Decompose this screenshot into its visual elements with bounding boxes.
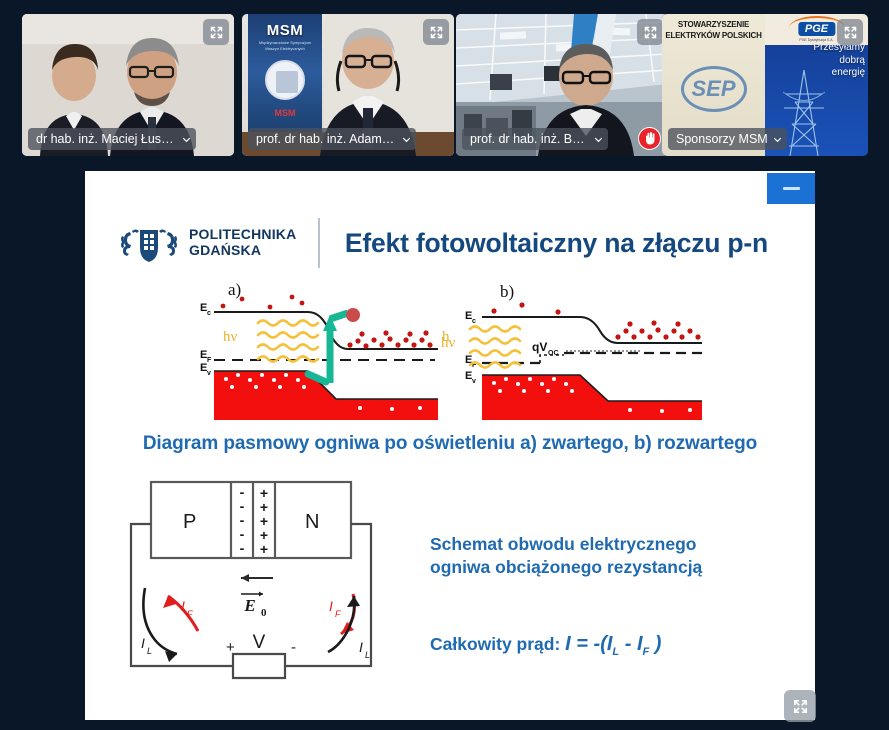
svg-text:+: +: [226, 639, 235, 656]
slide-header: POLITECHNIKA GDAŃSKA Efekt fotowoltaiczn…: [85, 213, 815, 273]
svg-text:P: P: [183, 511, 196, 533]
video-tile-1[interactable]: dr hab. inż. Maciej Łuszc…: [22, 14, 234, 156]
band-diagram-a: a) E c E F E v hν h: [180, 275, 455, 420]
svg-text:N: N: [305, 511, 319, 533]
chevron-down-icon[interactable]: [773, 135, 782, 144]
svg-text:c: c: [472, 318, 476, 325]
svg-text:+: +: [260, 541, 268, 557]
svg-text:V: V: [253, 632, 266, 653]
video-tile-4[interactable]: STOWARZYSZENIE ELEKTRYKÓW POLSKICH SEP P…: [662, 14, 868, 156]
svg-text:c: c: [207, 310, 211, 317]
svg-text:I: I: [329, 598, 333, 614]
logo-wordmark: POLITECHNIKA GDAŃSKA: [189, 227, 296, 258]
participant-name: dr hab. inż. Maciej Łuszc…: [36, 132, 177, 146]
expand-icon[interactable]: [203, 19, 229, 45]
minimize-icon: [783, 187, 800, 190]
sep-logo-icon: SEP: [681, 66, 747, 112]
formula-prefix: Całkowity prąd:: [430, 634, 565, 654]
fullscreen-icon: [792, 698, 809, 715]
video-tile-3[interactable]: prof. dr hab. inż. Boh…: [456, 14, 668, 156]
svg-text:-: -: [291, 639, 296, 656]
svg-text:a): a): [228, 280, 241, 299]
circuit-description-line1: Schemat obwodu elektrycznego: [430, 533, 800, 556]
band-diagrams: a) E c E F E v hν h: [85, 275, 815, 420]
hand-glyph: [644, 132, 656, 145]
logo-line1: POLITECHNIKA: [189, 227, 296, 243]
svg-text:L: L: [147, 646, 152, 656]
header-divider: [318, 218, 320, 268]
participant-name-pill[interactable]: prof. dr hab. inż. Adam K…: [248, 128, 416, 150]
raise-hand-icon[interactable]: [638, 127, 661, 150]
slide-title: Efekt fotowoltaiczny na złączu p-n: [345, 228, 768, 259]
formula-minus: -: [619, 633, 637, 655]
svg-text:hν: hν: [441, 335, 456, 351]
circuit-description-line2: ogniwa obciążonego rezystancją: [430, 556, 800, 579]
svg-text:I: I: [181, 598, 185, 614]
pn-junction-circuit-diagram: P N --- -- +++ ++ E 0 I: [113, 476, 423, 691]
svg-text:0: 0: [261, 607, 267, 619]
pge-slogan: Przesyłamy dobrą energię: [811, 42, 865, 80]
video-tile-2[interactable]: MSM Międzynarodowe Sympozjum Maszyn Elek…: [242, 14, 454, 156]
svg-text:L: L: [365, 650, 370, 660]
participant-name: prof. dr hab. inż. Boh…: [470, 132, 589, 146]
politechnika-gdanska-logo: POLITECHNIKA GDAŃSKA: [118, 222, 296, 264]
sep-logo-text: SEP: [684, 69, 744, 109]
expand-icon[interactable]: [423, 19, 449, 45]
svg-text:OC: OC: [548, 350, 559, 357]
svg-text:hν: hν: [223, 329, 238, 345]
participant-name: Sponsorzy MSM: [676, 132, 768, 146]
circuit-description: Schemat obwodu elektrycznego ogniwa obci…: [430, 533, 800, 579]
svg-text:F: F: [207, 357, 212, 364]
svg-text:I: I: [359, 639, 363, 655]
minimize-button[interactable]: [767, 173, 815, 204]
sep-title-line2: ELEKTRYKÓW POLSKICH: [662, 31, 765, 42]
formula-eq: = -(: [571, 633, 607, 655]
participant-name-pill[interactable]: dr hab. inż. Maciej Łuszc…: [28, 128, 196, 150]
video-filmstrip: dr hab. inż. Maciej Łuszc… MSM Międzynar…: [0, 0, 889, 170]
band-diagram-b: b) E c E F E v hν qV OC: [440, 275, 715, 420]
logo-line2: GDAŃSKA: [189, 243, 296, 259]
svg-text:qV: qV: [532, 340, 547, 354]
total-current-formula: Całkowity prąd: I = -(IL - IF ): [430, 633, 800, 658]
sep-title: STOWARZYSZENIE ELEKTRYKÓW POLSKICH: [662, 20, 765, 42]
svg-text:b): b): [500, 282, 514, 301]
shared-slide: POLITECHNIKA GDAŃSKA Efekt fotowoltaiczn…: [85, 171, 815, 720]
power-pylon-icon: [783, 68, 825, 156]
pge-slogan-3: energię: [811, 67, 865, 80]
sep-title-line1: STOWARZYSZENIE: [662, 20, 765, 31]
pge-slogan-2: dobrą: [811, 55, 865, 68]
svg-text:-: -: [240, 540, 245, 556]
participant-name: prof. dr hab. inż. Adam K…: [256, 132, 397, 146]
chevron-down-icon[interactable]: [182, 135, 191, 144]
svg-text:v: v: [207, 370, 211, 377]
formula-close: ): [649, 633, 661, 655]
svg-text:F: F: [187, 609, 193, 619]
diagram-caption: Diagram pasmowy ogniwa po oświetleniu a)…: [85, 433, 815, 455]
svg-text:I: I: [141, 635, 145, 651]
svg-text:v: v: [472, 378, 476, 385]
participant-name-pill[interactable]: prof. dr hab. inż. Boh…: [462, 128, 608, 150]
chevron-down-icon[interactable]: [402, 135, 411, 144]
chevron-down-icon[interactable]: [594, 135, 603, 144]
svg-text:F: F: [335, 609, 341, 619]
politechnika-gdanska-crest-icon: [118, 222, 180, 264]
pge-logo: PGE: [798, 22, 835, 36]
svg-text:E: E: [243, 596, 255, 615]
expand-icon[interactable]: [837, 19, 863, 45]
expand-icon[interactable]: [637, 19, 663, 45]
fullscreen-button[interactable]: [784, 690, 816, 722]
participant-name-pill[interactable]: Sponsorzy MSM: [668, 128, 787, 150]
conference-app: dr hab. inż. Maciej Łuszc… MSM Międzynar…: [0, 0, 889, 730]
